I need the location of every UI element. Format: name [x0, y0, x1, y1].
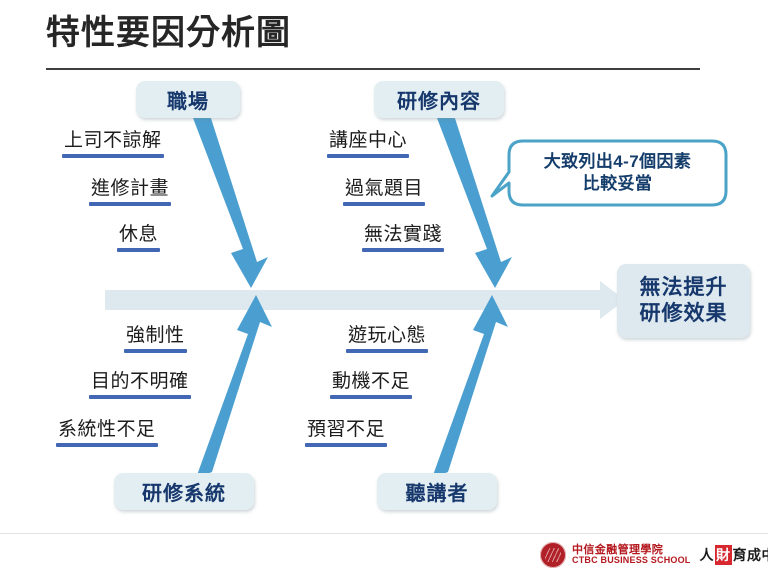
cause-item[interactable]: 遊玩心態 — [346, 326, 428, 353]
cause-underline — [327, 154, 409, 158]
category-label-training-system: 研修系統 — [142, 477, 226, 506]
center-char: 成 — [747, 545, 762, 565]
cause-label: 休息 — [117, 225, 160, 248]
cause-label: 系統性不足 — [56, 420, 158, 443]
cause-label: 進修計畫 — [89, 179, 171, 202]
school-name-en: CTBC BUSINESS SCHOOL — [572, 556, 691, 566]
cause-underline — [305, 443, 387, 447]
school-name: 中信金融管理學院 CTBC BUSINESS SCHOOL — [572, 544, 691, 566]
slide-canvas: 特性要因分析圖 職場 研修內容 研 — [0, 0, 768, 576]
cause-label: 強制性 — [124, 326, 187, 349]
spine-arrow — [105, 281, 625, 319]
cause-underline — [62, 154, 164, 158]
cause-underline — [56, 443, 158, 447]
category-box-audience[interactable]: 聽講者 — [377, 473, 497, 510]
category-box-workplace[interactable]: 職場 — [136, 81, 240, 118]
callout-text: 大致列出4-7個因素 比較妥當 — [509, 141, 726, 205]
branch-arrow-audience — [432, 295, 508, 478]
cause-underline — [124, 349, 187, 353]
cause-underline — [346, 349, 428, 353]
center-char: 中 — [762, 545, 768, 565]
cause-underline — [117, 248, 160, 252]
cause-label: 動機不足 — [330, 372, 412, 395]
cause-label: 上司不諒解 — [62, 131, 164, 154]
cause-label: 講座中心 — [327, 131, 409, 154]
effect-line-1: 無法提升 — [640, 275, 728, 301]
branch-arrow-training-system — [196, 295, 272, 478]
cause-underline — [89, 395, 191, 399]
callout-line-2: 比較妥當 — [583, 173, 653, 195]
center-char: 人 — [700, 545, 715, 565]
category-label-workplace: 職場 — [167, 85, 209, 114]
cause-underline — [89, 202, 171, 206]
cause-item[interactable]: 強制性 — [124, 326, 187, 353]
cause-item[interactable]: 動機不足 — [330, 372, 412, 399]
cause-item[interactable]: 進修計畫 — [89, 179, 171, 206]
footer-branding: 中信金融管理學院 CTBC BUSINESS SCHOOL 人 財 育 成 中 … — [540, 537, 768, 573]
cause-item[interactable]: 過氣題目 — [343, 179, 425, 206]
cause-item[interactable]: 休息 — [117, 225, 160, 252]
category-label-training-content: 研修內容 — [397, 85, 481, 114]
center-char: 育 — [733, 545, 748, 565]
center-char-highlighted: 財 — [715, 545, 732, 565]
center-name: 人 財 育 成 中 心 — [700, 545, 768, 565]
cause-label: 過氣題目 — [343, 179, 425, 202]
cause-label: 目的不明確 — [89, 372, 191, 395]
cause-label: 遊玩心態 — [346, 326, 428, 349]
cause-underline — [362, 248, 444, 252]
callout-bubble[interactable]: 大致列出4-7個因素 比較妥當 — [509, 141, 726, 205]
cause-item[interactable]: 上司不諒解 — [62, 131, 164, 158]
school-seal-icon — [540, 542, 566, 568]
cause-item[interactable]: 講座中心 — [327, 131, 409, 158]
branch-arrow-workplace — [193, 112, 268, 288]
cause-underline — [330, 395, 412, 399]
category-label-audience: 聽講者 — [406, 477, 469, 506]
cause-label: 無法實踐 — [362, 225, 444, 248]
cause-item[interactable]: 目的不明確 — [89, 372, 191, 399]
effect-line-2: 研修效果 — [640, 301, 728, 327]
category-box-training-content[interactable]: 研修內容 — [374, 81, 504, 118]
cause-item[interactable]: 無法實踐 — [362, 225, 444, 252]
footer-divider — [0, 533, 768, 534]
cause-label: 預習不足 — [305, 420, 387, 443]
branch-arrow-training-content — [437, 112, 512, 288]
effect-box[interactable]: 無法提升 研修效果 — [617, 264, 750, 338]
cause-underline — [343, 202, 425, 206]
category-box-training-system[interactable]: 研修系統 — [114, 473, 254, 510]
cause-item[interactable]: 系統性不足 — [56, 420, 158, 447]
callout-line-1: 大致列出4-7個因素 — [544, 151, 692, 173]
cause-item[interactable]: 預習不足 — [305, 420, 387, 447]
